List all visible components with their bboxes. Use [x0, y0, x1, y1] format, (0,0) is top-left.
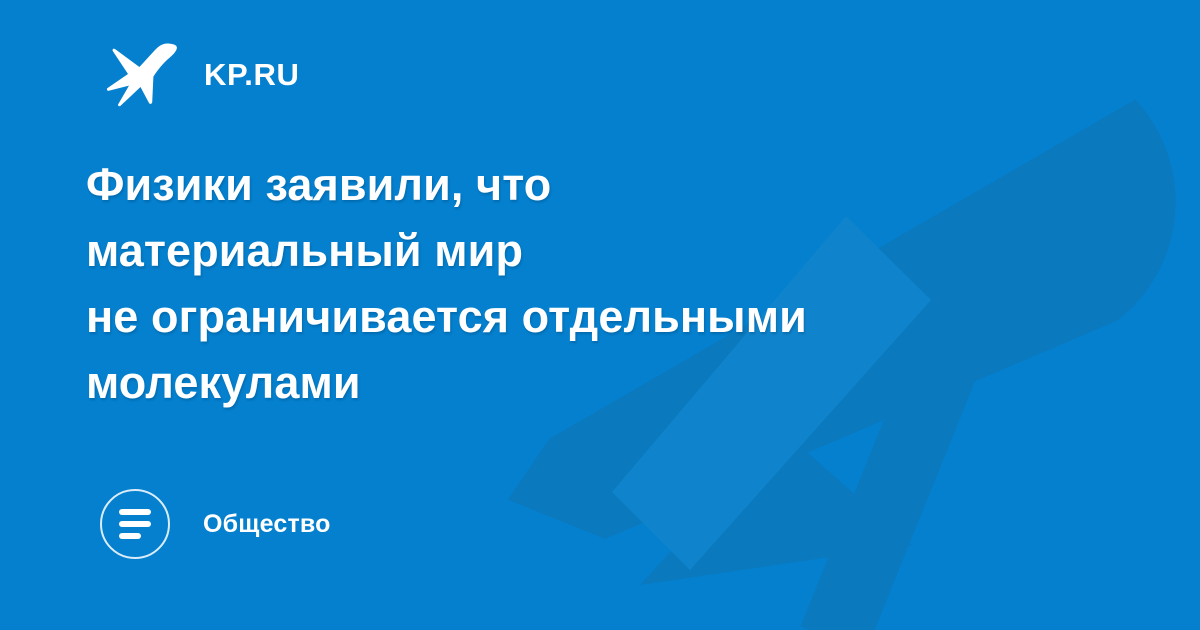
swallow-bird-icon — [106, 41, 178, 107]
menu-bar-middle — [119, 521, 151, 527]
share-card: KP.RU Физики заявили, что материальный м… — [0, 0, 1200, 630]
headline: Физики заявили, что материальный мир не … — [86, 152, 1116, 416]
menu-bar-bottom — [119, 533, 141, 539]
brand-logo[interactable]: KP.RU — [106, 38, 299, 110]
headline-line-2: материальный мир — [86, 218, 1116, 284]
headline-line-1: Физики заявили, что — [86, 152, 1116, 218]
brand-name: KP.RU — [204, 59, 299, 90]
headline-line-3: не ограничивается отдельными — [86, 284, 1116, 350]
hamburger-menu-icon[interactable] — [100, 489, 170, 559]
menu-bar-top — [119, 509, 151, 515]
category-label: Общество — [203, 512, 331, 537]
headline-line-4: молекулами — [86, 350, 1116, 416]
category-badge[interactable]: Общество — [100, 486, 331, 562]
